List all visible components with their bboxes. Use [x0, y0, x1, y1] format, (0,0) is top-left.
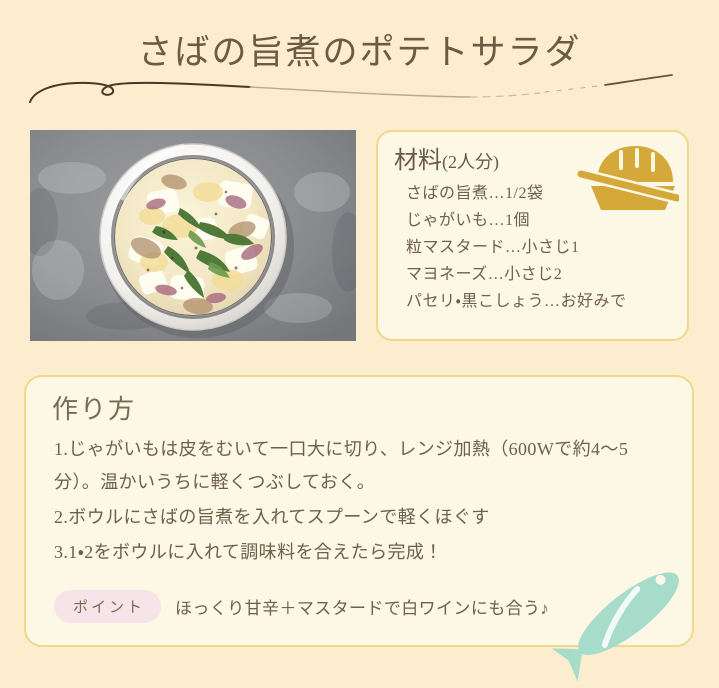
- ingredient-item: じゃがいも…1個: [406, 207, 679, 234]
- ingredients-heading-servings: (2人分): [442, 152, 499, 172]
- potato-salad-photo: [30, 130, 356, 341]
- page-title: さばの旨煮のポテトサラダ: [0, 24, 719, 75]
- ingredients-heading: 材料(2人分): [394, 140, 499, 175]
- point-row: ポイント ほっくり甘辛＋マスタードで白ワインにも合う♪: [54, 590, 549, 623]
- instruction-step: 2.ボウルにさばの旨煮を入れてスプーンで軽くほぐす: [54, 501, 672, 534]
- ingredients-heading-main: 材料: [394, 148, 442, 174]
- ingredient-item: 粒マスタード…小さじ1: [406, 234, 679, 261]
- point-text: ほっくり甘辛＋マスタードで白ワインにも合う♪: [175, 594, 549, 619]
- instructions-panel: 作り方 1.じゃがいもは皮をむいて一口大に切り、レンジ加熱（600Wで約4〜5分…: [24, 375, 694, 647]
- instruction-step: 1.じゃがいもは皮をむいて一口大に切り、レンジ加熱（600Wで約4〜5分）。温か…: [54, 433, 672, 499]
- instructions-list: 1.じゃがいもは皮をむいて一口大に切り、レンジ加熱（600Wで約4〜5分）。温か…: [54, 433, 672, 571]
- ingredient-item: マヨネーズ…小さじ2: [406, 261, 679, 288]
- photo-illustration: [30, 130, 356, 341]
- title-area: さばの旨煮のポテトサラダ: [0, 0, 719, 112]
- ingredient-item: パセリ・黒こしょう…お好みで: [406, 288, 679, 315]
- instructions-heading: 作り方: [52, 389, 136, 426]
- recipe-card-page: さばの旨煮のポテトサラダ: [0, 0, 719, 688]
- ingredients-list: さばの旨煮…1/2袋 じゃがいも…1個 粒マスタード…小さじ1 マヨネーズ…小さ…: [406, 180, 679, 315]
- point-badge: ポイント: [54, 590, 161, 623]
- instruction-step: 3.1・2をボウルに入れて調味料を合えたら完成！: [54, 536, 672, 569]
- ingredients-panel: 材料(2人分) さばの旨煮…1/2袋 じゃがいも…1個: [376, 130, 689, 341]
- ingredient-item: さばの旨煮…1/2袋: [406, 180, 679, 207]
